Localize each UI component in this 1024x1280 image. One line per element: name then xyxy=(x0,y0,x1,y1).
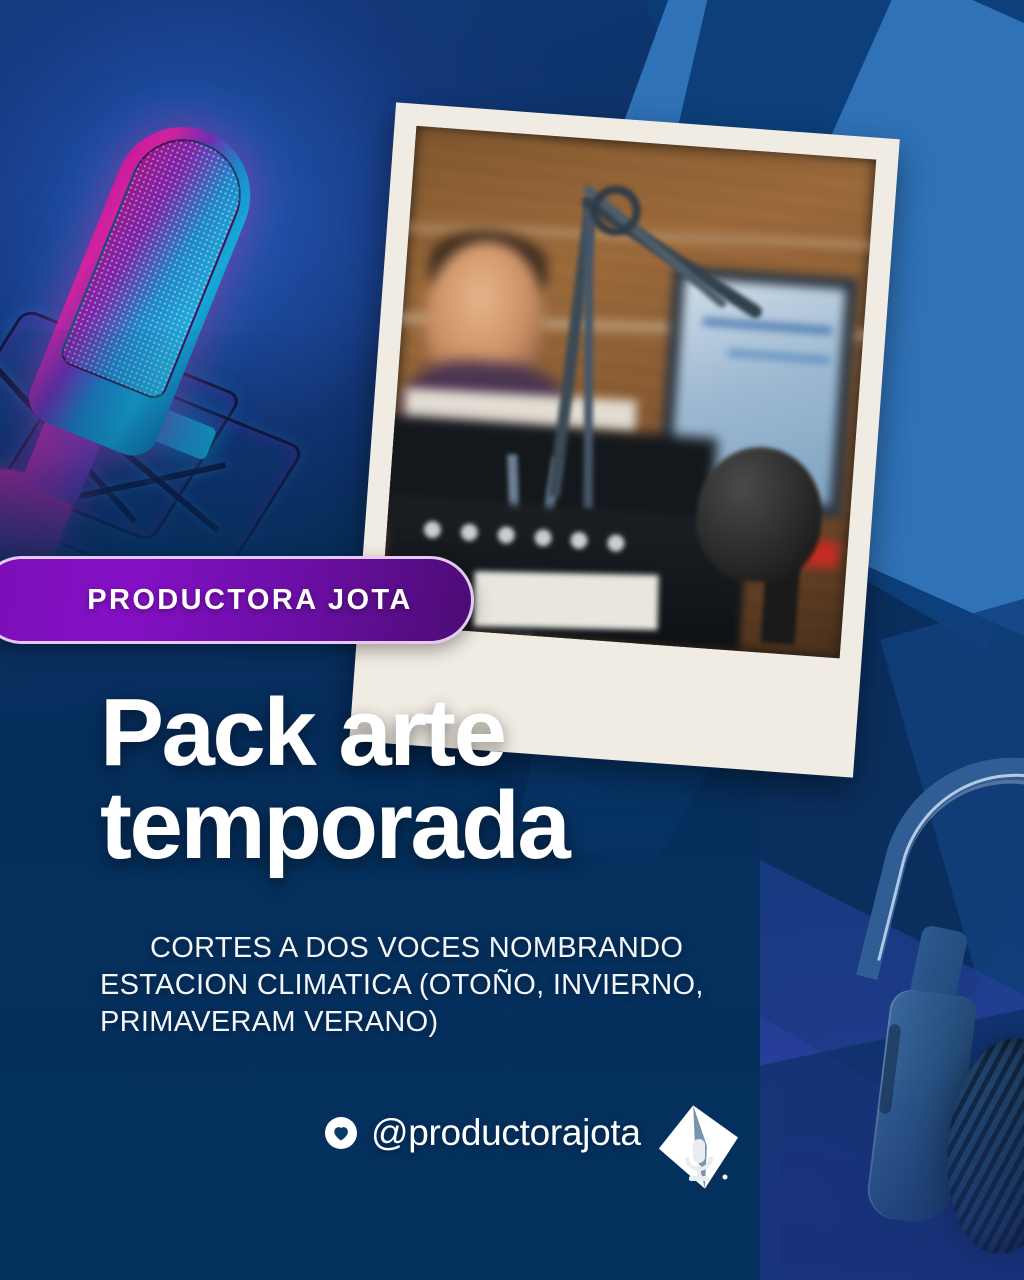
page-title-line-1: Pack arte xyxy=(100,679,504,786)
heart-icon xyxy=(325,1117,357,1149)
brand-badge: PRODUCTORA JOTA xyxy=(0,556,474,644)
description-line-3: PRIMAVERAM VERANO) xyxy=(100,1004,800,1041)
page-title-line-2: temporada xyxy=(100,779,820,872)
headphones-fade-overlay xyxy=(780,1080,1024,1280)
photo-boom-vertical xyxy=(584,199,594,509)
social-handle-row[interactable]: @productorajota xyxy=(325,1112,641,1154)
polaroid-photo-frame xyxy=(349,102,900,777)
description-line-1: CORTES A DOS VOCES NOMBRANDO xyxy=(100,930,800,967)
social-handle-text: @productorajota xyxy=(371,1112,641,1154)
photo-paper xyxy=(474,571,660,630)
description-text: CORTES A DOS VOCES NOMBRANDO ESTACION CL… xyxy=(100,930,800,1040)
brand-logo xyxy=(655,1103,741,1195)
brand-badge-label: PRODUCTORA JOTA xyxy=(39,584,412,617)
page-title: Pack arte temporada xyxy=(100,686,820,872)
headphones-illustration xyxy=(840,780,1024,1280)
social-media-poster: PRODUCTORA JOTA Pack arte temporada CORT… xyxy=(0,0,1024,1280)
description-line-2: ESTACION CLIMATICA (OTOÑO, INVIERNO, xyxy=(100,967,800,1004)
